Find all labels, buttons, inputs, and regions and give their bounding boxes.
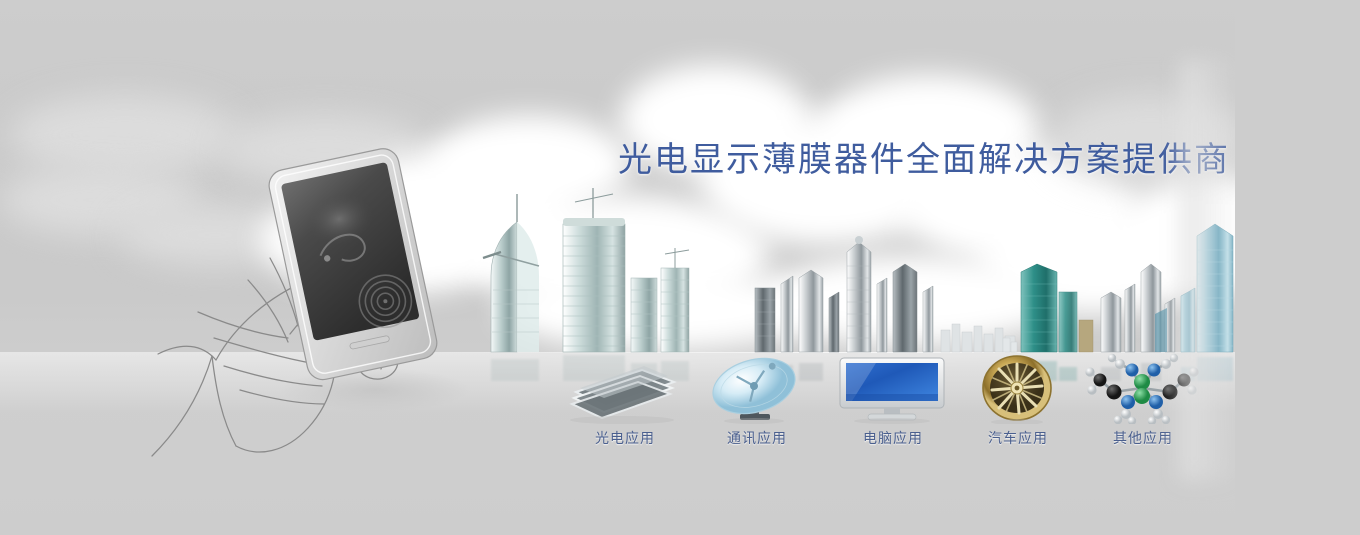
application-item-optoelectronic[interactable]: 光电应用 xyxy=(550,352,700,448)
application-item-communication[interactable]: 通讯应用 xyxy=(682,352,832,448)
application-icon-row: 光电应用 xyxy=(0,352,1250,462)
promo-banner: 光电显示薄膜器件全面解决方案提供商 xyxy=(0,0,1360,535)
right-edge-fade xyxy=(1180,60,1240,480)
city-skyline xyxy=(455,180,1245,355)
application-label: 光电应用 xyxy=(550,428,700,448)
satellite-dish-icon xyxy=(682,352,832,424)
page-title: 光电显示薄膜器件全面解决方案提供商 xyxy=(618,140,1230,180)
glass-panels-icon xyxy=(550,352,700,424)
application-label: 通讯应用 xyxy=(682,428,832,448)
right-flat-panel xyxy=(1235,0,1360,535)
